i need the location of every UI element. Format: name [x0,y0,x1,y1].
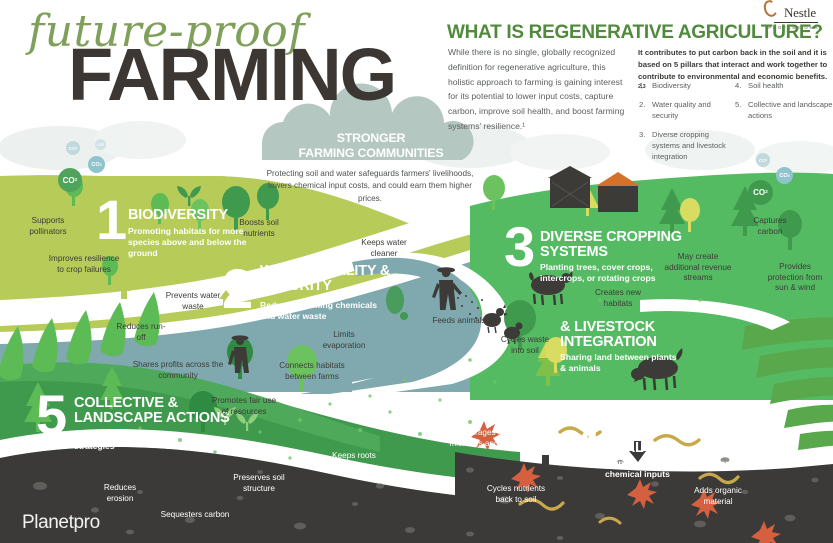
label-boosts-soil-nutrients: Boosts soil nutrients [226,218,292,239]
intro-pillar-right-item-1-number: 4. [735,80,743,91]
pillar-5-number: 5 [36,392,67,438]
label-captures-carbon: Captures carbon [740,216,800,237]
pillar-3-subtitle: Planting trees, cover crops, intercrops,… [540,262,678,284]
intro-pillar-right-item-1-label: Soil health [748,80,783,91]
pillar-5-subtitle: Adopting community-wide strategies [74,430,184,452]
label-creates-new-habitats: Creates new habitats [585,288,651,309]
communities-title-line2: FARMING COMMUNITIES [275,146,467,161]
intro-pillar-right-item-2-number: 5. [735,99,743,121]
label-improves-resilience: Improves resilience to crop failures [48,254,120,275]
pillar-3-subtitle-b: Sharing land between plants & animals [560,352,682,374]
nestle-wordmark: Nestle [774,5,818,23]
page-title: FARMING [68,40,395,110]
label-provides-protection: Provides protection from sun & wind [762,262,828,294]
co2-bubble-mid-right: CO2 [776,167,793,184]
intro-pillar-right-item-2: 5.Collective and landscape actions [735,99,833,121]
barn-grey [548,166,592,208]
communities-title-line1: STRONGER [275,131,467,146]
pillar-list-left: 1.Biodiversity2.Water quality and securi… [639,80,731,170]
communities-body: Protecting soil and water safeguards far… [256,168,484,205]
intro-pillar-left-item-2: 2.Water quality and security [639,99,731,121]
label-may-create-revenue: May create additional revenue streams [660,252,736,284]
label-shares-profits: Shares profits across the community [126,360,230,381]
co2-bubble-small-left: CO2 [66,141,80,155]
label-prevents-water-waste: Prevents water waste [160,291,226,312]
label-reduces-run-off: Reduces run-off [113,322,169,343]
intro-body: While there is no single, globally recog… [448,45,630,134]
label-connects-habitats: Connects habitats between farms [274,361,350,382]
label-keeps-water-cleaner: Keeps water cleaner [350,238,418,259]
label-supports-pollinators: Supports pollinators [14,216,82,237]
pillar-list-right: 4.Soil health5.Collective and landscape … [735,80,833,129]
co2-bubble-tiny-left: CO2 [95,139,106,150]
pillar-4-title: SOIL HEALTH [605,426,695,456]
infographic-root: future-proof FARMING Nestle PROFESSIONAL… [0,0,833,543]
pillar-4-number: 4 [570,424,601,470]
pillar-3-number: 3 [504,224,535,270]
pillar-3-title-b: & LIVESTOCK INTEGRATION [560,320,690,350]
co2-bubble-large-right: CO2 [748,180,773,205]
intro-heading: WHAT IS REGENERATIVE AGRICULTURE? [447,22,823,44]
co2-bubble-small-right: CO2 [756,153,770,167]
barn-orange [596,172,640,212]
label-reduces-erosion: Reduces erosion [92,483,148,504]
label-limits-evaporation: Limits evaporation [313,330,375,351]
label-cycles-nutrients: Cycles nutrients back to soil [486,484,546,505]
label-feeds-animals: Feeds animals [432,316,486,327]
label-preserves-soil-structure: Preserves soil structure [226,473,292,494]
label-sequesters-carbon: Sequesters carbon [160,510,230,521]
planetpro-logo: Planetpro [22,512,100,534]
pillar-2-subtitle: Reducing farming chemicals and water was… [260,300,382,322]
intro-pillar-left-item-1-number: 1. [639,80,647,91]
co2-bubble-mid-left: CO2 [88,156,105,173]
intro-pillar-right-item-1: 4.Soil health [735,80,833,91]
co2-bubble-large-left: CO2 [58,168,82,192]
label-keeps-roots-intact: Keeps roots intact [323,451,385,472]
label-cycles-waste-into-soil: Cycles waste into soil [500,335,550,356]
intro-lead-text: It contributes to put carbon back in the… [638,48,827,81]
label-promotes-fair-use: Promotes fair use of resources [208,396,280,417]
pillar-2-title: WATER QUALITY & SECURITY [260,264,400,294]
intro-pillar-right-item-2-label: Collective and landscape actions [748,99,833,121]
pillar-2-number: 2 [222,266,253,312]
intro-pillar-left-item-3-label: Diverse cropping systems and livestock i… [652,129,731,162]
intro-pillar-left-item-2-label: Water quality and security [652,99,731,121]
label-adds-organic-material: Adds organic material [694,486,742,507]
pillar-4-subtitle: Using mulching, low tillage, and less ch… [605,458,755,480]
intro-pillar-left-item-2-number: 2. [639,99,647,121]
pillar-1-number: 1 [96,197,127,243]
intro-pillar-left-item-3-number: 3. [639,129,647,162]
label-encourages-microbes: Encourages good microbes and fungi [448,428,520,449]
intro-pillar-left-item-3: 3.Diverse cropping systems and livestock… [639,129,731,162]
communities-title: STRONGER FARMING COMMUNITIES [275,131,467,160]
intro-pillar-left-item-1: 1.Biodiversity [639,80,731,91]
intro-pillar-left-item-1-label: Biodiversity [652,80,691,91]
